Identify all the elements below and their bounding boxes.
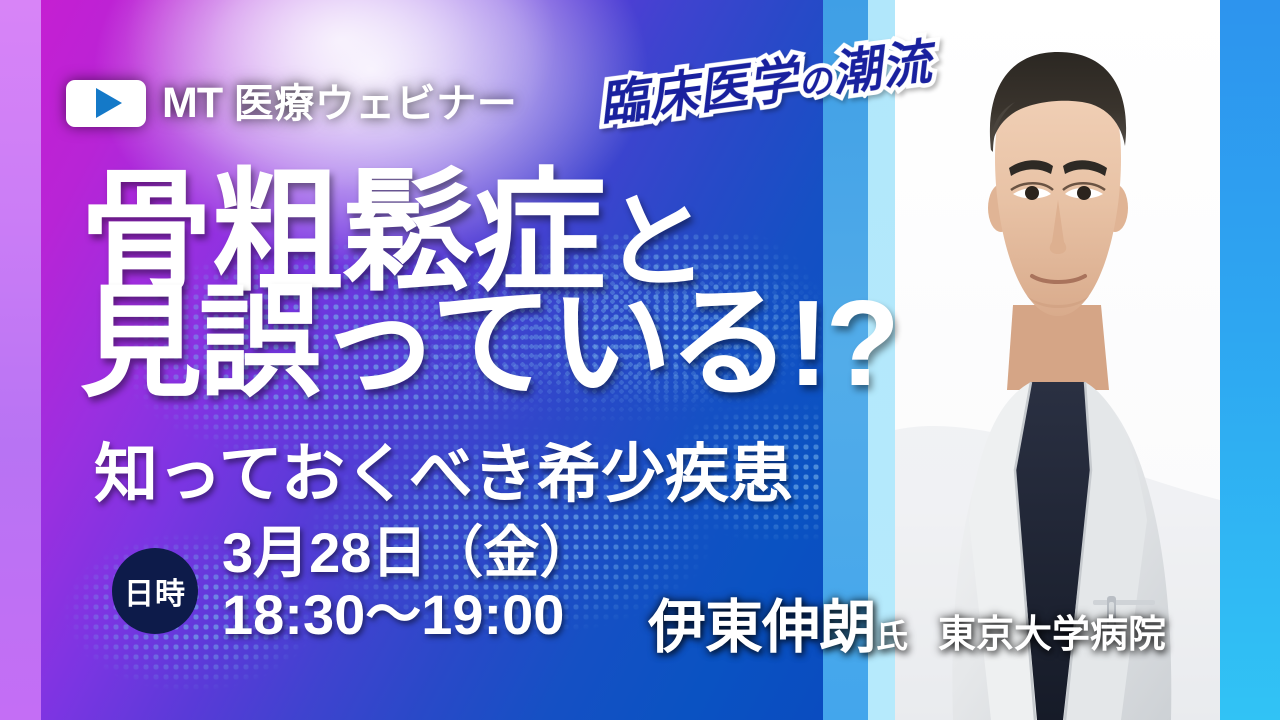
brand-logo-mt: MT (162, 79, 222, 127)
title-block: 骨粗鬆症と 見誤っている!? (80, 168, 840, 404)
speaker-caption: 伊東伸朗 氏 東京大学病院 (648, 580, 1166, 664)
play-button-icon (66, 80, 146, 127)
series-particle: の (796, 61, 836, 103)
brand-logo: MT 医療ウェビナー (66, 74, 517, 132)
speaker-honorific: 氏 (876, 611, 908, 657)
title-line-2: 見誤っている!? (80, 284, 840, 404)
brand-logo-text: MT 医療ウェビナー (162, 82, 517, 125)
subtitle: 知っておくべき希少疾患 (94, 423, 793, 515)
speaker-name: 伊東伸朗 (648, 580, 876, 664)
date-day: 3月28日（金） (222, 522, 595, 584)
date-block: 3月28日（金） 18:30〜19:00 (222, 522, 595, 645)
left-accent-stripe (0, 0, 41, 720)
webinar-banner: MT 医療ウェビナー 臨床医学の潮流 骨粗鬆症と 見誤っている!? 知っておくべ… (0, 0, 1280, 720)
date-time: 18:30〜19:00 (222, 584, 595, 646)
speaker-affiliation: 東京大学病院 (938, 603, 1166, 658)
brand-logo-label: 医療ウェビナー (234, 82, 518, 126)
date-badge: 日時 (112, 548, 198, 634)
